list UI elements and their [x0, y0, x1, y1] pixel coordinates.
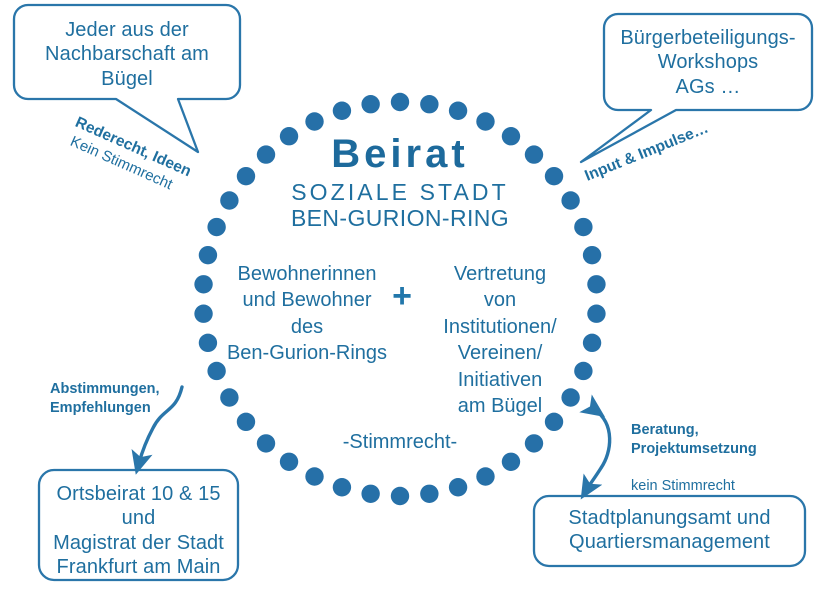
ring-dot [207, 218, 225, 236]
ring-dot [449, 102, 467, 120]
ring-dot [280, 453, 298, 471]
ring-dot [333, 102, 351, 120]
ring-dot [420, 95, 438, 113]
ring-dot [391, 487, 409, 505]
page-title: Beirat [270, 130, 530, 179]
box-ortsbeirat-label: Ortsbeirat 10 & 15 und Magistrat der Sta… [39, 482, 238, 580]
label-beratung: Beratung, Projektumsetzung kein Stimmrec… [631, 402, 801, 515]
label-beratung-text: Beratung, Projektumsetzung [631, 421, 801, 459]
ring-dot [449, 478, 467, 496]
ring-dot [237, 413, 255, 431]
ring-dot [199, 246, 217, 264]
ring-dot [194, 275, 212, 293]
page-subtitle-2: BEN-GURION-RING [250, 204, 550, 232]
label-abstimmungen: Abstimmungen, Empfehlungen [50, 361, 200, 436]
ring-dot [361, 485, 379, 503]
ring-dot [502, 453, 520, 471]
plus-icon: + [387, 276, 417, 317]
ring-dot [305, 467, 323, 485]
ring-dot [583, 246, 601, 264]
ring-dot [587, 275, 605, 293]
ring-dot [333, 478, 351, 496]
label-abstimmungen-text: Abstimmungen, Empfehlungen [50, 380, 200, 418]
ring-dot [220, 191, 238, 209]
ring-dot [525, 434, 543, 452]
diagram-canvas: Jeder aus der Nachbarschaft am Bügel Bür… [0, 0, 820, 600]
center-right-column: Vertretung von Institutionen/ Vereinen/ … [420, 261, 580, 419]
center-footer-label: -Stimmrecht- [315, 430, 485, 454]
arrow-beratung [587, 410, 610, 489]
ring-dot [361, 95, 379, 113]
center-left-column: Bewohnerinnen und Bewohner des Ben-Gurio… [222, 261, 392, 367]
ring-dot [561, 191, 579, 209]
ring-dot [305, 112, 323, 130]
ring-dot [257, 434, 275, 452]
bubble-neighbourhood-label: Jeder aus der Nachbarschaft am Bügel [18, 18, 236, 91]
ring-dot [587, 305, 605, 323]
ring-dot [220, 388, 238, 406]
ring-dot [420, 485, 438, 503]
label-kein-stimmrecht-bottom: kein Stimmrecht [631, 477, 801, 496]
page-subtitle-1: SOZIALE STADT [250, 178, 550, 206]
ring-dot [583, 334, 601, 352]
ring-dot [391, 93, 409, 111]
ring-dot [199, 334, 217, 352]
ring-dot [476, 112, 494, 130]
ring-dot [194, 305, 212, 323]
bubble-workshops-label: Bürgerbeteiligungs- Workshops AGs … [604, 26, 812, 99]
ring-dot [476, 467, 494, 485]
ring-dot [574, 218, 592, 236]
